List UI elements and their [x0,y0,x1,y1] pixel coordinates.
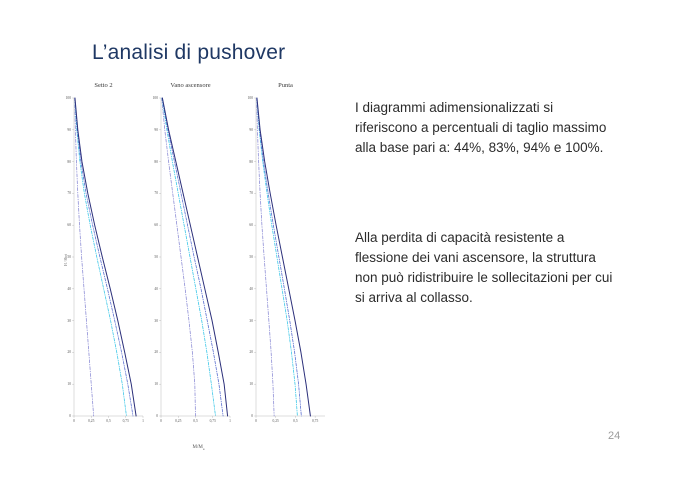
chart-panel-1: Vano ascensore010203040506070809010000,2… [149,82,232,440]
x-tick-label: 0,25 [269,419,283,423]
y-tick-label: 80 [148,160,158,164]
chart-plot-area [149,90,232,430]
y-tick-label: 40 [61,287,71,291]
x-tick-label: 0,5 [189,419,203,423]
chart-panel-title: Vano ascensore [149,82,232,89]
x-tick-label: 0 [67,419,81,423]
y-tick-label: 70 [148,191,158,195]
y-axis-label: H / Htot [64,254,68,266]
y-tick-label: 20 [148,350,158,354]
x-tick-label: 0,5 [102,419,116,423]
y-tick-label: 100 [61,96,71,100]
y-tick-label: 10 [148,382,158,386]
y-tick-label: 10 [61,382,71,386]
y-tick-label: 40 [148,287,158,291]
x-tick-label: 0,75 [206,419,220,423]
x-axis-label-subscript: u [203,447,205,451]
chart-panel-group: Setto 2010203040506070809010000,250,50,7… [56,82,341,440]
y-tick-label: 0 [148,414,158,418]
paragraph-collapse-description: Alla perdita di capacità resistente a fl… [355,228,655,308]
y-tick-label: 70 [61,191,71,195]
chart-plot-area [244,90,327,430]
x-axis-label-text: M/M [193,445,203,450]
page-title: L’analisi di pushover [92,41,285,65]
x-axis-label: M/Mu [56,445,341,451]
y-tick-label: 90 [148,128,158,132]
y-tick-label: 20 [61,350,71,354]
x-tick-label: 1 [223,419,237,423]
x-tick-label: 0,75 [119,419,133,423]
y-tick-label: 100 [243,96,253,100]
x-tick-label: 1 [136,419,150,423]
y-tick-label: 70 [243,191,253,195]
y-tick-label: 20 [243,350,253,354]
y-tick-label: 30 [148,319,158,323]
chart-panel-title: Punta [244,82,327,89]
y-tick-label: 30 [61,319,71,323]
y-tick-label: 60 [243,223,253,227]
paragraph-diagrams-description: I diagrammi adimensionalizzati si riferi… [355,98,655,158]
x-tick-label: 0 [154,419,168,423]
x-tick-label: 0,25 [171,419,185,423]
chart-panel-2: Punta010203040506070809010000,250,50,75 [244,82,327,440]
y-tick-label: 100 [148,96,158,100]
chart-panel-0: Setto 2010203040506070809010000,250,50,7… [62,82,145,440]
slide-canvas: L’analisi di pushover Setto 201020304050… [0,0,700,494]
y-tick-label: 10 [243,382,253,386]
y-tick-label: 80 [243,160,253,164]
y-tick-label: 60 [61,223,71,227]
y-tick-label: 90 [243,128,253,132]
y-tick-label: 50 [148,255,158,259]
pushover-figure: Setto 2010203040506070809010000,250,50,7… [56,82,341,457]
y-tick-label: 90 [61,128,71,132]
y-tick-label: 30 [243,319,253,323]
y-tick-label: 0 [243,414,253,418]
chart-plot-area [62,90,145,430]
y-tick-label: 60 [148,223,158,227]
y-tick-label: 40 [243,287,253,291]
x-tick-label: 0,5 [288,419,302,423]
page-number: 24 [608,430,620,442]
x-tick-label: 0,75 [308,419,322,423]
x-tick-label: 0,25 [84,419,98,423]
x-tick-label: 0 [249,419,263,423]
chart-panel-title: Setto 2 [62,82,145,89]
y-tick-label: 50 [243,255,253,259]
y-tick-label: 0 [61,414,71,418]
y-tick-label: 80 [61,160,71,164]
